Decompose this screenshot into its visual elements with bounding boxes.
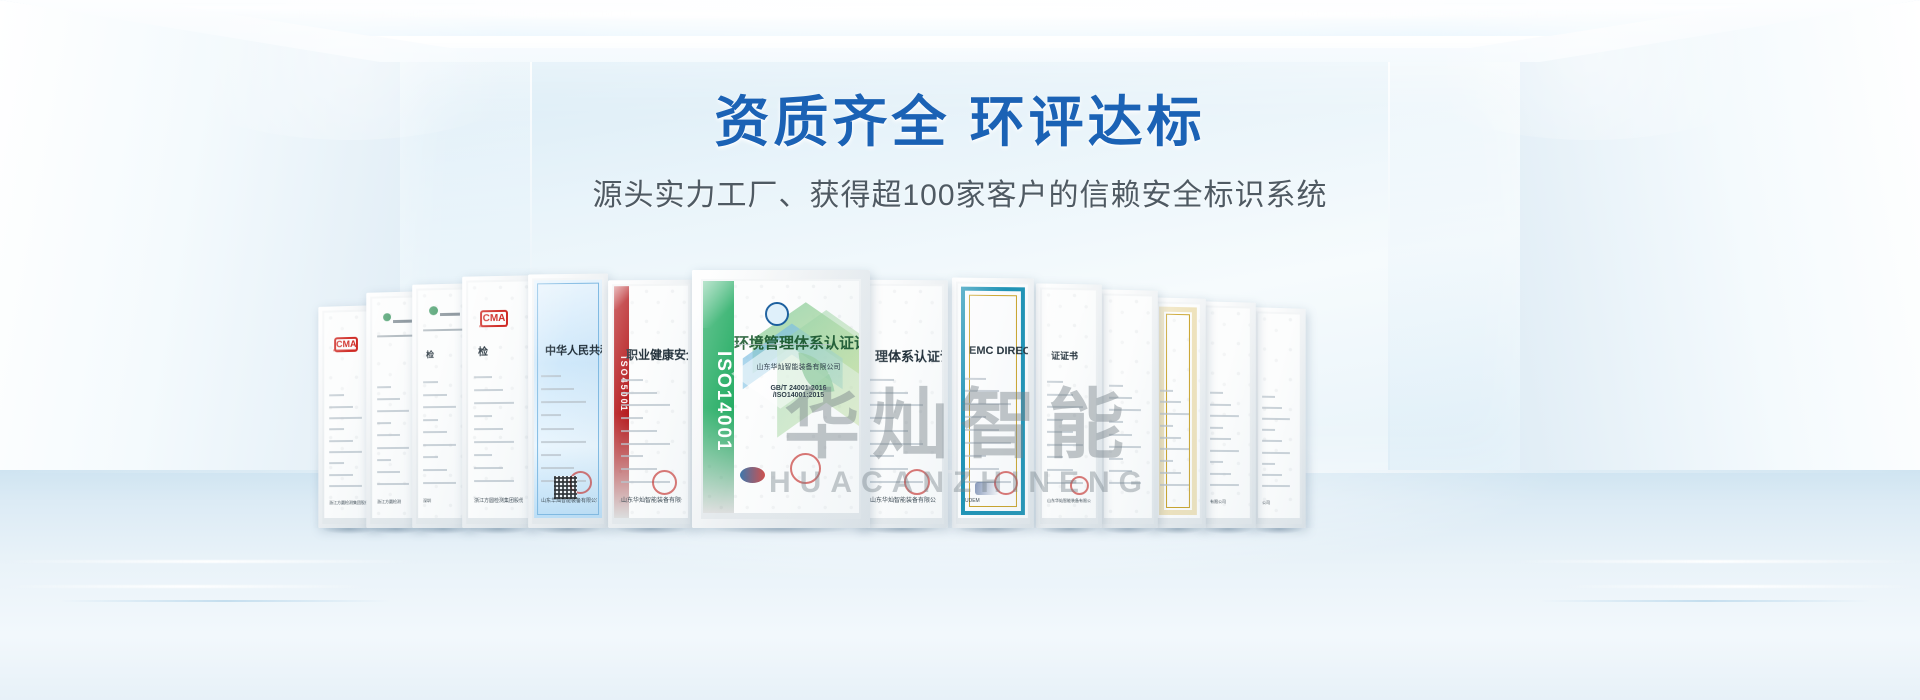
certificate-frame[interactable]: ISO45001职业健康安全管理体系认证证书山东华灿智能装备有限公司 [608,280,694,528]
headline-block: 资质齐全 环评达标 源头实力工厂、获得超100家客户的信赖安全标识系统 [0,92,1920,214]
certificate-heading: 检 [478,343,488,358]
banner-stage: 资质齐全 环评达标 源头实力工厂、获得超100家客户的信赖安全标识系统 CMA浙… [0,0,1920,700]
certificate-frame[interactable] [1098,289,1158,528]
floor-light-line [1510,560,1920,563]
certificate-paper [1104,295,1152,518]
floor-light-line [0,560,420,563]
certificate-paper: 检深圳 [418,289,468,518]
certificate-paper: 中华人民共和国山东华灿智能装备有限公司 [534,280,602,518]
certification-body-seal-icon [765,302,789,326]
official-red-stamp-icon [904,469,930,495]
page-subtitle: 源头实力工厂、获得超100家客户的信赖安全标识系统 [0,170,1920,214]
certificate-heading: 理体系认证证书 [875,346,942,365]
official-red-stamp-icon [652,470,677,495]
certificate-frame[interactable]: 有限公司 [1200,301,1256,528]
ceiling-glow [0,0,1920,90]
certificate-heading: 检 [426,349,434,360]
floor-light-line [0,585,370,588]
certificate-heading: 证证书 [1051,349,1078,362]
certificate-frame[interactable]: 证证书山东华灿智能装备有限公司 [1036,283,1102,528]
certificate-heading: 职业健康安全管理体系认证证书 [626,345,688,363]
floor-light-line [1560,585,1920,588]
certificate-frame[interactable] [1150,297,1206,528]
certificate-heading: 环境管理体系认证证书 [734,332,859,353]
official-red-stamp-icon [790,453,821,484]
floor-band [1540,600,1870,602]
certificate-paper: 有限公司 [1206,307,1250,518]
certificate-wall: CMA浙江方圆检测集团股份有限公司浙江方圆检测检深圳CMA检浙江方圆检测集团股份… [0,228,1920,528]
official-red-stamp-icon [1070,476,1089,495]
certificate-paper [1156,303,1200,518]
certificate-paper: ISO45001职业健康安全管理体系认证证书山东华灿智能装备有限公司 [614,286,688,518]
certificate-frame[interactable]: 公司 [1252,307,1306,528]
certificate-frame[interactable]: 中华人民共和国山东华灿智能装备有限公司 [528,274,608,528]
page-title: 资质齐全 环评达标 [0,92,1920,154]
certificate-paper: 证证书山东华灿智能装备有限公司 [1042,290,1096,519]
certificate-paper: 公司 [1258,313,1300,518]
floor-band [60,600,390,602]
certificate-frame[interactable]: ISO14001环境管理体系认证证书GB/T 24001-2016 /ISO14… [692,270,870,528]
certificate-paper: EMC DIRECTIVE, ELECTROMAGNETIC COMPATIBI… [958,284,1028,518]
certificate-paper: ISO14001环境管理体系认证证书GB/T 24001-2016 /ISO14… [703,281,859,513]
certificate-heading: 中华人民共和国 [545,342,602,359]
qr-code-icon [554,476,577,499]
certificate-paper: CMA检浙江方圆检测集团股份有限公司 [468,281,528,518]
certificate-frame[interactable]: EMC DIRECTIVE, ELECTROMAGNETIC COMPATIBI… [952,278,1034,528]
certificate-frame[interactable]: CMA检浙江方圆检测集团股份有限公司 [462,275,534,528]
certificate-paper: 理体系认证证书山东华灿智能装备有限公司 [862,286,942,518]
